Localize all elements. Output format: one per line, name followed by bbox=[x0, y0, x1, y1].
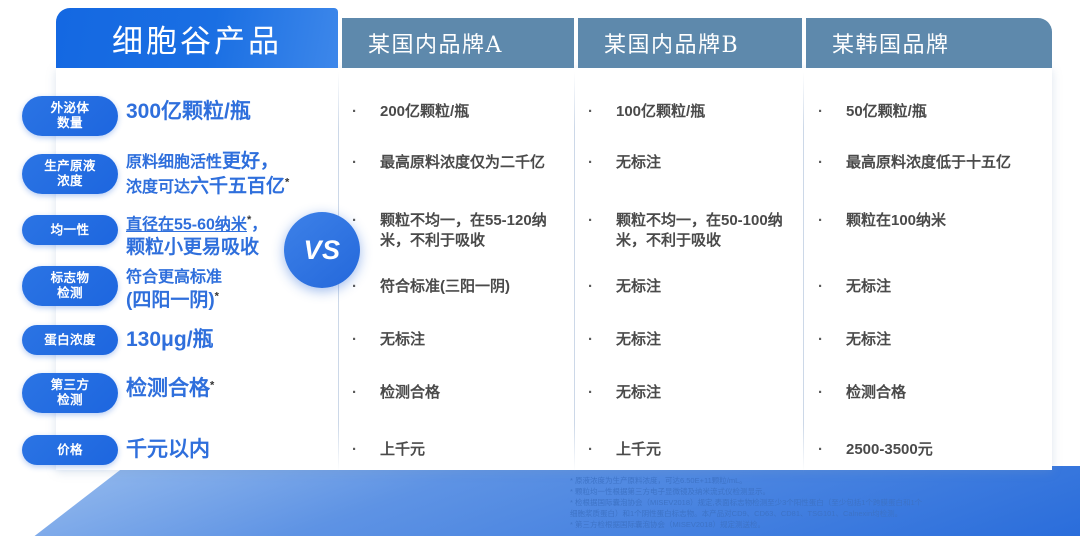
row-label-exosome-count: 外泌体数量 bbox=[22, 96, 118, 136]
bullet-icon: · bbox=[352, 102, 357, 122]
cell-brand-a-marker-test: ·符合标准(三阳一阴) bbox=[352, 277, 558, 297]
row-label-protein-concentration-text: 蛋白浓度 bbox=[44, 333, 96, 348]
own-value-marker-test: 符合更高标准 (四阳一阴)* bbox=[126, 268, 296, 313]
cell-brand-a-uniformity: ·颗粒不均一，在55-120纳米，不利于吸收 bbox=[352, 211, 558, 251]
own-value-price: 千元以内 bbox=[126, 436, 296, 463]
cell-brand-a-third-party-test: ·检测合格 bbox=[352, 383, 558, 403]
cell-brand-korea-third-party-test: ·检测合格 bbox=[818, 383, 1040, 403]
bullet-icon: · bbox=[818, 277, 823, 297]
bullet-icon: · bbox=[352, 383, 357, 403]
row-label-uniformity-text: 均一性 bbox=[51, 223, 90, 238]
footnote-marker: * bbox=[285, 176, 289, 188]
row-label-exosome-count-text: 外泌体数量 bbox=[51, 101, 90, 131]
cell-brand-korea-marker-test: ·无标注 bbox=[818, 277, 1040, 297]
comparison-grid: 外泌体数量 生产原液浓度 均一性 标志物检测 蛋白浓度 第三方检测 价格 300… bbox=[0, 68, 1080, 470]
cell-brand-a-stock-concentration: ·最高原料浓度仅为二千亿 bbox=[352, 153, 558, 173]
own-value-protein-concentration: 130μg/瓶 bbox=[126, 326, 296, 353]
bullet-icon: · bbox=[588, 102, 593, 122]
footnote-marker: * bbox=[215, 290, 219, 302]
row-label-stock-concentration-text: 生产原液浓度 bbox=[44, 159, 96, 189]
cell-brand-a-exosome-count: ·200亿颗粒/瓶 bbox=[352, 102, 558, 122]
row-label-marker-test-text: 标志物检测 bbox=[51, 271, 90, 301]
bullet-icon: · bbox=[588, 330, 593, 350]
cell-brand-korea-exosome-count: ·50亿颗粒/瓶 bbox=[818, 102, 1040, 122]
bullet-icon: · bbox=[588, 277, 593, 297]
own-value-uniformity: 直径在55-60纳米*， 颗粒小更易吸收 bbox=[126, 213, 296, 261]
bullet-icon: · bbox=[818, 211, 823, 231]
cell-brand-b-exosome-count: ·100亿颗粒/瓶 bbox=[588, 102, 788, 122]
row-label-marker-test: 标志物检测 bbox=[22, 266, 118, 306]
bullet-icon: · bbox=[352, 277, 357, 297]
header-brand-korea-label: 某韩国品牌 bbox=[806, 27, 950, 59]
header-brand-b-label: 某国内品牌B bbox=[578, 27, 739, 59]
cell-brand-a-protein-concentration: ·无标注 bbox=[352, 330, 558, 350]
vs-badge-label: VS bbox=[303, 235, 340, 266]
cell-brand-korea-price: ·2500-3500元 bbox=[818, 440, 1040, 460]
header-brand-b: 某国内品牌B bbox=[578, 18, 802, 68]
cell-brand-b-third-party-test: ·无标注 bbox=[588, 383, 788, 403]
cell-brand-korea-uniformity: ·颗粒在100纳米 bbox=[818, 211, 1040, 231]
bullet-icon: · bbox=[352, 153, 357, 173]
footnotes-block: * 原液浓度为生产原料浓度，可达6.50E+11颗粒/mL。 * 颗粒均一性根据… bbox=[570, 476, 1040, 530]
bullet-icon: · bbox=[818, 383, 823, 403]
cell-brand-a-price: ·上千元 bbox=[352, 440, 558, 460]
cell-brand-korea-stock-concentration: ·最高原料浓度低于十五亿 bbox=[818, 153, 1040, 173]
row-label-third-party-test-text: 第三方检测 bbox=[51, 378, 90, 408]
own-value-exosome-count: 300亿颗粒/瓶 bbox=[126, 98, 296, 125]
cell-brand-b-protein-concentration: ·无标注 bbox=[588, 330, 788, 350]
bullet-icon: · bbox=[818, 102, 823, 122]
cell-brand-b-marker-test: ·无标注 bbox=[588, 277, 788, 297]
header-own-product-label: 细胞谷产品 bbox=[112, 16, 282, 61]
row-label-stock-concentration: 生产原液浓度 bbox=[22, 154, 118, 194]
header-own-product: 细胞谷产品 bbox=[56, 8, 338, 68]
cell-brand-b-stock-concentration: ·无标注 bbox=[588, 153, 788, 173]
bullet-icon: · bbox=[588, 440, 593, 460]
footnote-marker: * bbox=[210, 380, 214, 392]
infographic-comparison-table: 细胞谷产品 某国内品牌A 某国内品牌B 某韩国品牌 外泌体数量 生产原液浓度 均… bbox=[0, 0, 1080, 536]
row-label-uniformity: 均一性 bbox=[22, 215, 118, 245]
own-value-stock-concentration: 原料细胞活性更好， 浓度可达六千五百亿* bbox=[126, 150, 296, 199]
cell-brand-korea-protein-concentration: ·无标注 bbox=[818, 330, 1040, 350]
row-label-price-text: 价格 bbox=[57, 443, 83, 458]
row-label-protein-concentration: 蛋白浓度 bbox=[22, 325, 118, 355]
bullet-icon: · bbox=[588, 383, 593, 403]
bullet-icon: · bbox=[352, 330, 357, 350]
footnote-line-5: * 第三方检根据国际囊泡协会（MISEV2018）规定测送检。 bbox=[570, 520, 1040, 531]
header-brand-korea: 某韩国品牌 bbox=[806, 18, 1052, 68]
bullet-icon: · bbox=[818, 330, 823, 350]
bullet-icon: · bbox=[588, 211, 593, 231]
own-value-third-party-test: 检测合格* bbox=[126, 375, 296, 402]
row-label-price: 价格 bbox=[22, 435, 118, 465]
bullet-icon: · bbox=[818, 440, 823, 460]
footnote-line-1: * 原液浓度为生产原料浓度，可达6.50E+11颗粒/mL。 bbox=[570, 476, 1040, 487]
footnote-line-3: * 检根据国际囊泡协会（MISEV2018）规定,表面标志物检测至少3个阳性蛋白… bbox=[570, 498, 1040, 509]
cell-brand-b-uniformity: ·颗粒不均一，在50-100纳米，不利于吸收 bbox=[588, 211, 788, 251]
bullet-icon: · bbox=[352, 440, 357, 460]
row-label-third-party-test: 第三方检测 bbox=[22, 373, 118, 413]
vs-badge: VS bbox=[284, 212, 360, 288]
footnote-line-2: * 颗粒均一性根据第三方电子显微镜及纳米流式仪检测显示。 bbox=[570, 487, 1040, 498]
header-brand-a: 某国内品牌A bbox=[342, 18, 574, 68]
header-brand-a-label: 某国内品牌A bbox=[342, 27, 503, 59]
footnote-line-4: 细胞浆质蛋白）和1个阴性蛋白标志物。本产品对CD9、CD63、CD81、TSG1… bbox=[570, 509, 1040, 520]
cell-brand-b-price: ·上千元 bbox=[588, 440, 788, 460]
bullet-icon: · bbox=[588, 153, 593, 173]
bullet-icon: · bbox=[818, 153, 823, 173]
